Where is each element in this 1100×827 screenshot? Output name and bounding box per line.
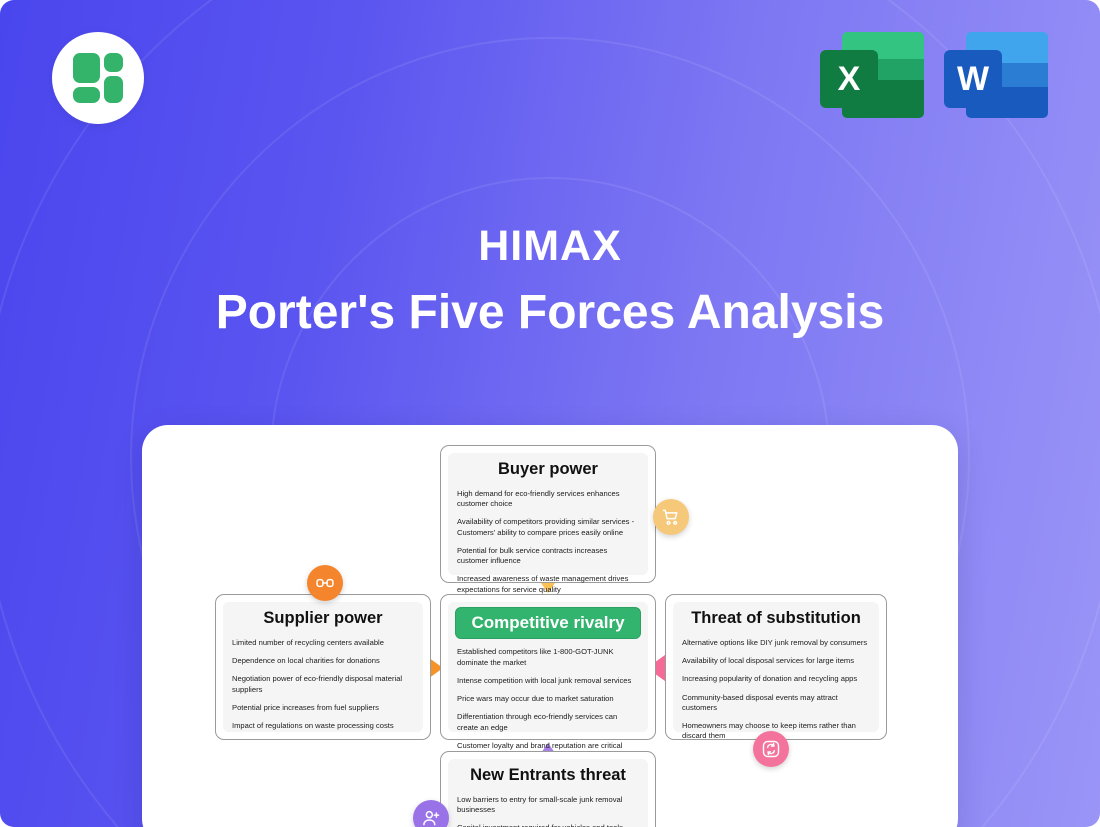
force-point: Established competitors like 1-800-GOT-J… [457,647,639,668]
force-point: Potential price increases from fuel supp… [232,703,414,713]
force-box-substitution[interactable]: Threat of substitution Alternative optio… [665,594,887,740]
page-title: Porter's Five Forces Analysis [0,285,1100,340]
office-app-icons: X W [820,28,1048,120]
excel-letter: X [820,50,878,108]
force-point: Alternative options like DIY junk remova… [682,638,870,648]
force-point: Capital investment required for vehicles… [457,823,639,827]
force-points-substitution: Alternative options like DIY junk remova… [682,638,870,742]
force-point: Low barriers to entry for small-scale ju… [457,795,639,816]
force-points-buyer: High demand for eco-friendly services en… [457,489,639,595]
force-box-rivalry[interactable]: Competitive rivalry Established competit… [440,594,656,740]
force-point: Potential for bulk service contracts inc… [457,546,639,567]
force-title-substitution: Threat of substitution [682,609,870,629]
force-point: Impact of regulations on waste processin… [232,721,414,731]
force-point: Negotiation power of eco-friendly dispos… [232,674,414,695]
force-points-supplier: Limited number of recycling centers avai… [232,638,414,732]
link-chain-icon[interactable] [307,565,343,601]
force-point: Dependence on local charities for donati… [232,656,414,666]
refresh-swap-icon[interactable] [753,731,789,767]
force-point: Intense competition with local junk remo… [457,676,639,686]
force-point: Differentiation through eco-friendly ser… [457,712,639,733]
company-title: HIMAX [0,222,1100,271]
poster-titles: HIMAX Porter's Five Forces Analysis [0,222,1100,340]
force-box-entrants[interactable]: New Entrants threat Low barriers to entr… [440,751,656,827]
force-point: Price wars may occur due to market satur… [457,694,639,704]
five-forces-diagram: Buyer power High demand for eco-friendly… [142,425,958,827]
force-point: Increased awareness of waste management … [457,574,639,595]
force-point: Availability of competitors providing si… [457,517,639,538]
force-point: Community-based disposal events may attr… [682,693,870,714]
force-title-rivalry: Competitive rivalry [455,607,641,639]
diagram-card: Buyer power High demand for eco-friendly… [142,425,958,827]
force-point: Availability of local disposal services … [682,656,870,666]
force-title-buyer: Buyer power [457,460,639,480]
shopping-cart-icon[interactable] [653,499,689,535]
poster-page: X W HIMAX Porter's Five Forces Analysis [0,0,1100,827]
force-point: Increasing popularity of donation and re… [682,674,870,684]
force-point: High demand for eco-friendly services en… [457,489,639,510]
brand-logo [52,32,144,124]
force-points-entrants: Low barriers to entry for small-scale ju… [457,795,639,827]
force-point: Limited number of recycling centers avai… [232,638,414,648]
word-letter: W [944,50,1002,108]
force-title-entrants: New Entrants threat [457,766,639,786]
excel-icon[interactable]: X [820,28,924,120]
word-icon[interactable]: W [944,28,1048,120]
force-box-buyer[interactable]: Buyer power High demand for eco-friendly… [440,445,656,583]
dashboard-grid-icon [73,53,123,103]
force-points-rivalry: Established competitors like 1-800-GOT-J… [457,647,639,761]
force-title-supplier: Supplier power [232,609,414,629]
force-box-supplier[interactable]: Supplier power Limited number of recycli… [215,594,431,740]
